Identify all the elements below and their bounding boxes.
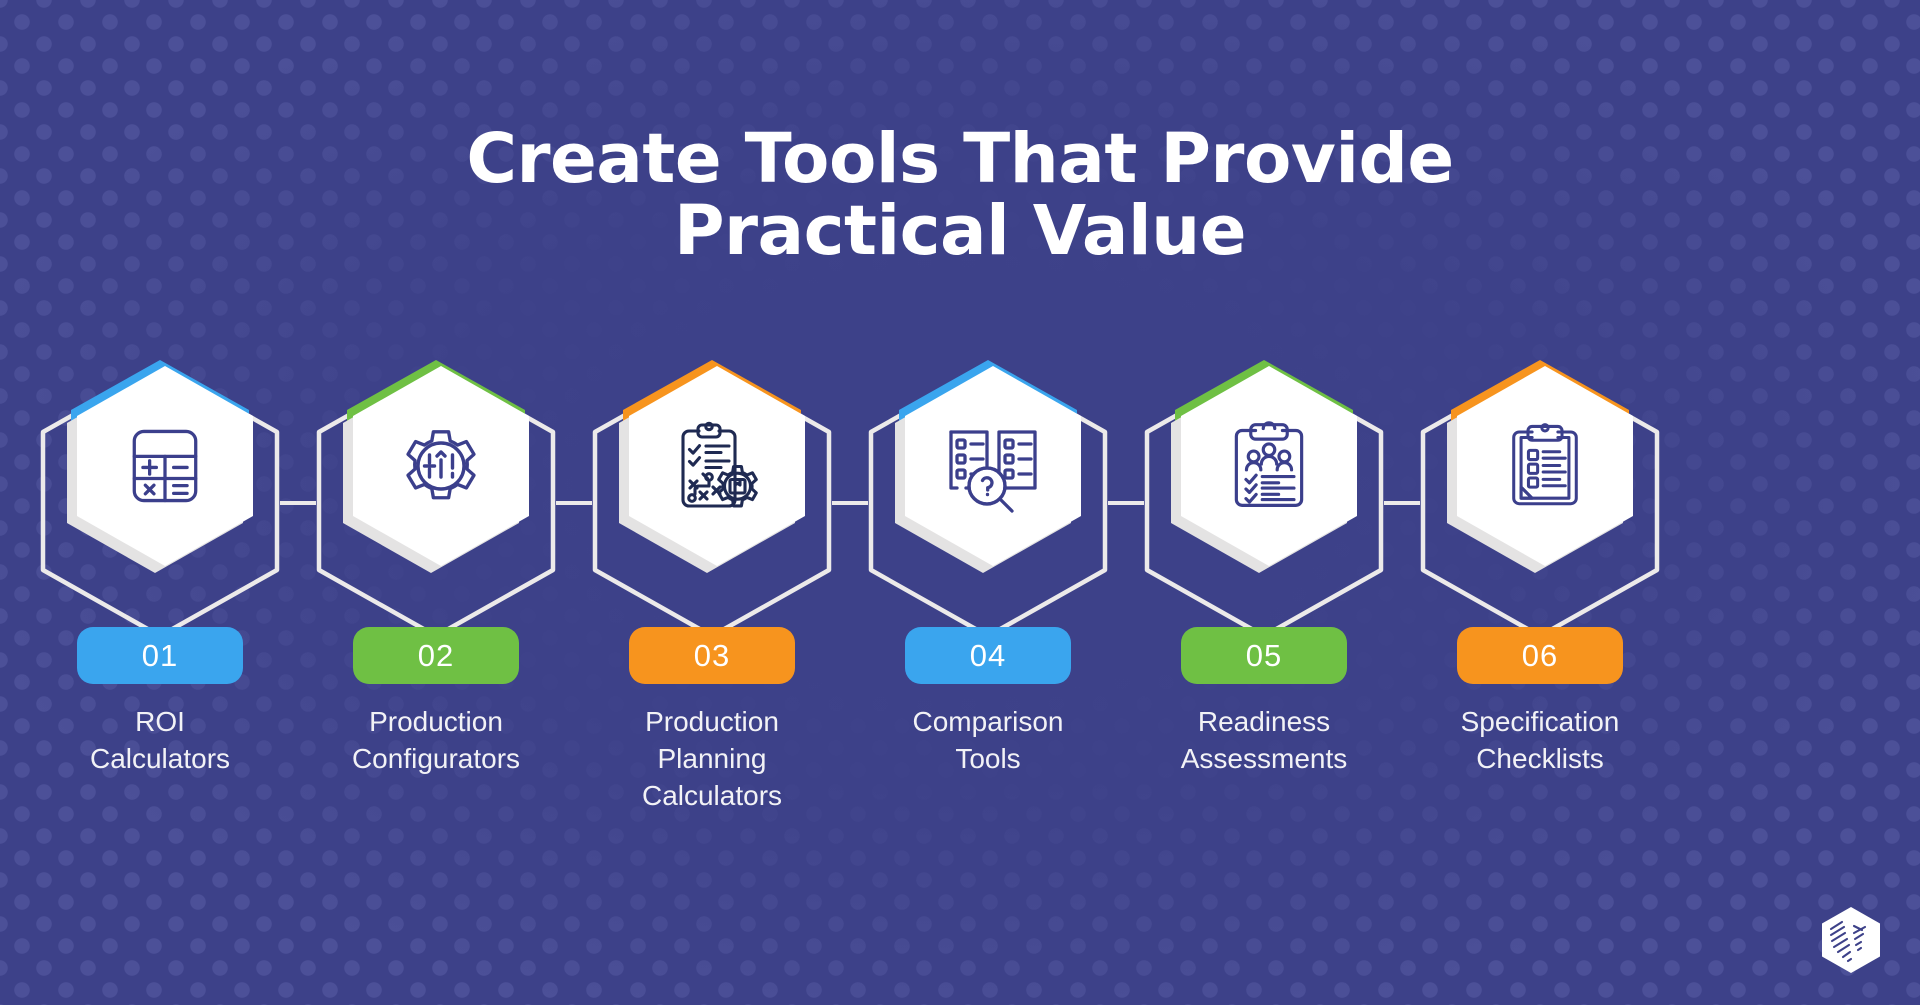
clipboard-checkboxes-icon bbox=[1499, 420, 1591, 512]
step-connector-line bbox=[832, 501, 868, 505]
page-title-line-2: Practical Value bbox=[0, 196, 1920, 268]
step-item[interactable]: 06 Specification Checklists bbox=[1402, 360, 1678, 830]
step-number-badge[interactable]: 06 bbox=[1457, 627, 1623, 684]
step-number-badge[interactable]: 05 bbox=[1181, 627, 1347, 684]
step-number-label: 06 bbox=[1522, 638, 1558, 674]
step-connector-line bbox=[1108, 501, 1144, 505]
step-caption: ROI Calculators bbox=[30, 703, 290, 777]
step-item[interactable]: 03 Production Planning Calculators bbox=[574, 360, 850, 830]
step-number-label: 04 bbox=[970, 638, 1006, 674]
step-item[interactable]: 05 Readiness Assessments bbox=[1126, 360, 1402, 830]
step-connector-line bbox=[1384, 501, 1420, 505]
step-number-badge[interactable]: 02 bbox=[353, 627, 519, 684]
infographic-canvas: Create Tools That Provide Practical Valu… bbox=[0, 0, 1920, 1005]
clipboard-flowchart-gear-icon bbox=[667, 416, 767, 516]
step-number-label: 02 bbox=[418, 638, 454, 674]
step-number-label: 05 bbox=[1246, 638, 1282, 674]
clipboard-people-checklist-icon bbox=[1221, 418, 1317, 514]
step-number-label: 01 bbox=[142, 638, 178, 674]
calculator-icon bbox=[117, 418, 213, 514]
step-connector-line bbox=[556, 501, 592, 505]
step-number-badge[interactable]: 01 bbox=[77, 627, 243, 684]
step-number-label: 03 bbox=[694, 638, 730, 674]
step-caption: Production Planning Calculators bbox=[582, 703, 842, 815]
step-caption: Specification Checklists bbox=[1410, 703, 1670, 777]
step-item[interactable]: 02 Production Configurators bbox=[298, 360, 574, 830]
step-number-badge[interactable]: 04 bbox=[905, 627, 1071, 684]
step-caption: Production Configurators bbox=[306, 703, 566, 777]
page-title-line-1: Create Tools That Provide bbox=[0, 124, 1920, 196]
hexagon-cube-logo bbox=[1818, 905, 1884, 975]
step-caption: Comparison Tools bbox=[858, 703, 1118, 777]
compare-lists-magnifier-icon bbox=[943, 416, 1043, 516]
gear-sliders-icon bbox=[391, 416, 491, 516]
step-item[interactable]: 04 Comparison Tools bbox=[850, 360, 1126, 830]
step-number-badge[interactable]: 03 bbox=[629, 627, 795, 684]
step-connector-line bbox=[280, 501, 316, 505]
step-caption: Readiness Assessments bbox=[1134, 703, 1394, 777]
step-list: 01 ROI Calculators bbox=[0, 360, 1920, 830]
step-item[interactable]: 01 ROI Calculators bbox=[22, 360, 298, 830]
page-title: Create Tools That Provide Practical Valu… bbox=[0, 124, 1920, 268]
